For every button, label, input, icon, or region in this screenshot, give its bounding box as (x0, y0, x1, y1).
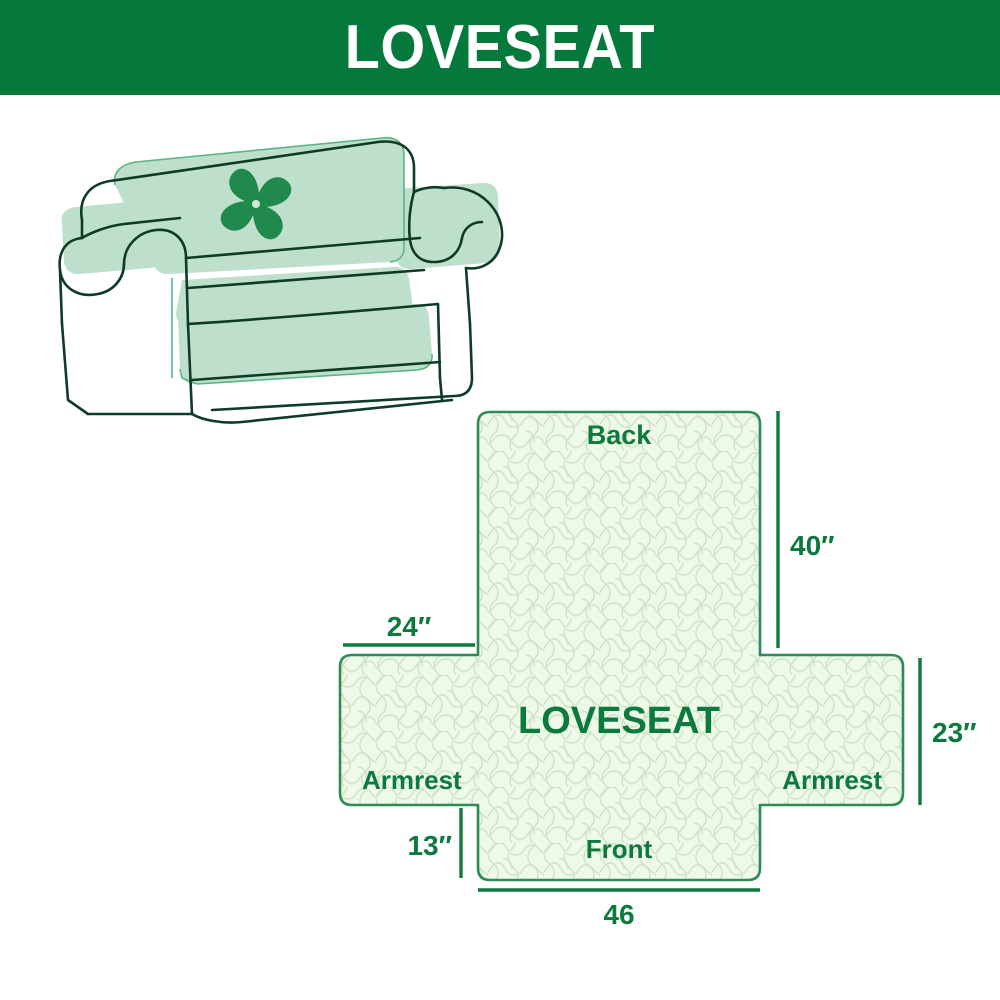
header-banner: LOVESEAT (0, 0, 1000, 95)
dimension-value-24: 24″ (387, 611, 432, 642)
dimension-height-front: 13″ (407, 808, 461, 878)
dimension-value-46: 46 (603, 899, 634, 930)
cover-dimension-diagram: Back LOVESEAT Armrest Armrest Front 40″ … (320, 395, 1000, 955)
dimension-value-40: 40″ (790, 530, 835, 561)
label-armrest-left: Armrest (362, 765, 462, 795)
label-armrest-right: Armrest (782, 765, 882, 795)
page-title: LOVESEAT (345, 17, 655, 79)
dimension-height-armrest: 23″ (920, 658, 977, 805)
dimension-height-back: 40″ (778, 411, 835, 648)
dimension-width-top-left: 24″ (343, 611, 475, 645)
label-loveseat-center: LOVESEAT (518, 700, 720, 742)
dimension-value-13: 13″ (407, 830, 452, 861)
page-root: LOVESEAT (0, 0, 1000, 1000)
dimension-width-front: 46 (478, 890, 760, 930)
label-back: Back (587, 420, 653, 450)
label-front: Front (586, 834, 653, 864)
dimension-value-23: 23″ (932, 717, 977, 748)
